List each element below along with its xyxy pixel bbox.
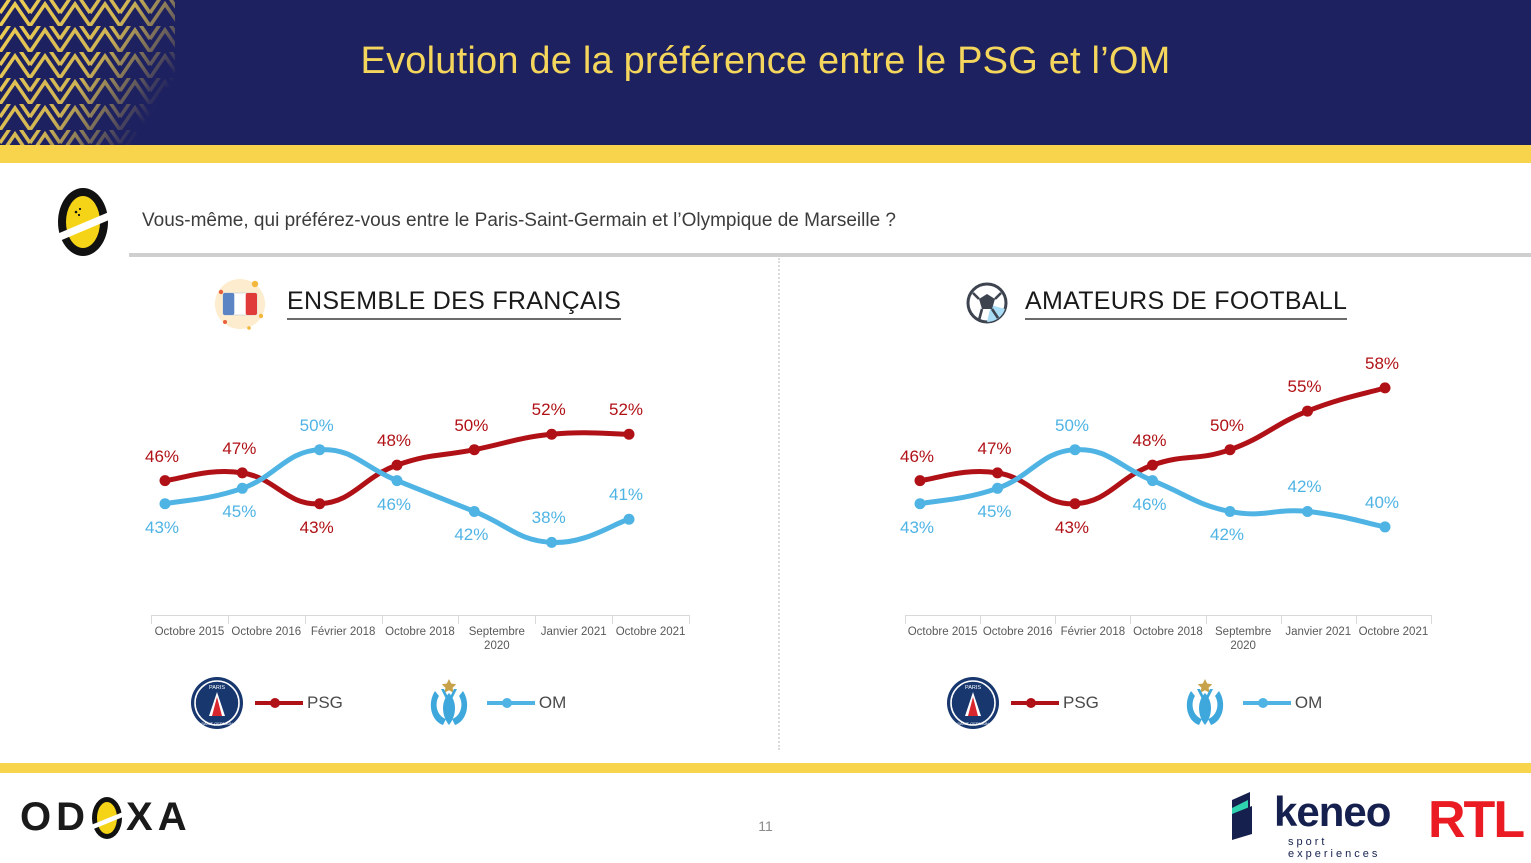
axis-tick — [1130, 615, 1131, 624]
axis-tick — [1281, 615, 1282, 624]
line-chart-amateurs: 46%47%43%48%50%55%58%43%45%50%46%42%42%4… — [790, 333, 1530, 633]
data-point-om — [1070, 444, 1081, 455]
data-label: 41% — [609, 485, 643, 505]
axis-tick — [689, 615, 690, 624]
axis-tick — [612, 615, 613, 624]
data-label: 43% — [145, 518, 179, 538]
data-label: 48% — [1133, 431, 1167, 451]
french-flag-icon — [209, 272, 271, 334]
data-label: 47% — [222, 439, 256, 459]
legend-item-psg: PARIS SAINT-GERMAIN PSG — [945, 675, 1099, 731]
data-label: 46% — [1133, 495, 1167, 515]
panel-header: AMATEURS DE FOOTBALL — [965, 273, 1347, 333]
header-accent-band — [0, 145, 1531, 163]
axis-tick — [382, 615, 383, 624]
axis-label: Février 2018 — [1055, 625, 1130, 639]
slide-title: Evolution de la préférence entre le PSG … — [0, 40, 1531, 83]
legend-label-om: OM — [539, 693, 566, 713]
panel-amateurs-de-football: AMATEURS DE FOOTBALL 46%47%43%48%50%55%5… — [790, 258, 1530, 758]
data-label: 50% — [454, 416, 488, 436]
rtl-logo: RTL — [1428, 790, 1523, 850]
data-point-om — [1147, 475, 1158, 486]
data-point-om — [624, 514, 635, 525]
axis-label: Octobre 2016 — [980, 625, 1055, 639]
data-point-psg — [546, 429, 557, 440]
axis-label: Septembre 2020 — [1206, 625, 1281, 653]
axis-tick — [228, 615, 229, 624]
footer-accent-band — [0, 763, 1531, 773]
axis-tick — [1206, 615, 1207, 624]
data-point-om — [160, 498, 171, 509]
data-point-om — [237, 483, 248, 494]
axis-label: Octobre 2018 — [1130, 625, 1205, 639]
axis-tick — [1431, 615, 1432, 624]
axis-label: Septembre 2020 — [458, 625, 535, 653]
data-label: 43% — [900, 518, 934, 538]
axis-tick — [535, 615, 536, 624]
soccer-ball-icon — [965, 281, 1009, 325]
data-label: 46% — [145, 447, 179, 467]
legend-item-om: OM — [1177, 675, 1322, 731]
data-point-psg — [1302, 406, 1313, 417]
data-label: 42% — [1288, 477, 1322, 497]
data-label: 50% — [1210, 416, 1244, 436]
data-point-om — [546, 537, 557, 548]
axis-tick — [1356, 615, 1357, 624]
panel-title: AMATEURS DE FOOTBALL — [1025, 287, 1347, 320]
keneo-logo: keneo sport experiences — [1228, 788, 1403, 850]
keneo-tagline: sport experiences — [1288, 836, 1403, 860]
legend-marker-psg — [1009, 695, 1061, 711]
data-label: 46% — [377, 495, 411, 515]
om-crest-icon — [421, 675, 477, 731]
svg-text:SAINT-GERMAIN: SAINT-GERMAIN — [201, 721, 233, 726]
data-label: 43% — [1055, 518, 1089, 538]
data-point-om — [469, 506, 480, 517]
axis-label: Octobre 2016 — [228, 625, 305, 639]
data-label: 38% — [532, 508, 566, 528]
data-point-psg — [1380, 382, 1391, 393]
x-axis: Octobre 2015Octobre 2016Février 2018Octo… — [905, 615, 1431, 661]
psg-crest-icon: PARIS SAINT-GERMAIN — [945, 675, 1001, 731]
axis-tick — [151, 615, 152, 624]
axis-tick — [458, 615, 459, 624]
data-point-psg — [392, 460, 403, 471]
legend-marker-om — [1241, 695, 1293, 711]
axis-tick — [1055, 615, 1056, 624]
axis-line — [151, 615, 689, 616]
data-label: 45% — [222, 502, 256, 522]
data-point-psg — [314, 498, 325, 509]
survey-question: Vous-même, qui préférez-vous entre le Pa… — [142, 210, 896, 232]
data-label: 42% — [454, 525, 488, 545]
data-label: 55% — [1288, 377, 1322, 397]
svg-text:SAINT-GERMAIN: SAINT-GERMAIN — [957, 721, 989, 726]
panel-ensemble-des-francais: ENSEMBLE DES FRANÇAIS 46%47%43%48%50%52%… — [129, 258, 769, 758]
data-point-om — [1225, 506, 1236, 517]
data-point-psg — [469, 444, 480, 455]
data-point-psg — [992, 467, 1003, 478]
svg-text:PARIS: PARIS — [965, 685, 981, 691]
data-point-om — [392, 475, 403, 486]
data-label: 50% — [300, 416, 334, 436]
chart-legend: PARIS SAINT-GERMAIN PSG — [945, 673, 1322, 733]
legend-label-psg: PSG — [307, 693, 343, 713]
legend-label-om: OM — [1295, 693, 1322, 713]
axis-label: Octobre 2015 — [151, 625, 228, 639]
panel-title: ENSEMBLE DES FRANÇAIS — [287, 287, 621, 320]
data-point-psg — [1225, 444, 1236, 455]
odoxa-mark-icon — [55, 186, 111, 258]
axis-tick — [905, 615, 906, 624]
data-label: 40% — [1365, 493, 1399, 513]
data-label: 58% — [1365, 354, 1399, 374]
axis-label: Octobre 2021 — [1356, 625, 1431, 639]
axis-label: Février 2018 — [305, 625, 382, 639]
data-label: 50% — [1055, 416, 1089, 436]
om-crest-icon — [1177, 675, 1233, 731]
data-point-om — [992, 483, 1003, 494]
data-point-psg — [1147, 460, 1158, 471]
data-point-psg — [915, 475, 926, 486]
axis-tick — [980, 615, 981, 624]
legend-item-om: OM — [421, 675, 566, 731]
data-label: 52% — [532, 400, 566, 420]
data-label: 42% — [1210, 525, 1244, 545]
keneo-name: keneo — [1274, 788, 1390, 836]
data-label: 45% — [978, 502, 1012, 522]
x-axis: Octobre 2015Octobre 2016Février 2018Octo… — [151, 615, 689, 661]
data-label: 48% — [377, 431, 411, 451]
data-point-om — [1380, 521, 1391, 532]
axis-label: Octobre 2021 — [612, 625, 689, 639]
slide-header: Evolution de la préférence entre le PSG … — [0, 0, 1531, 145]
axis-line — [905, 615, 1431, 616]
chart-legend: PARIS SAINT-GERMAIN PSG — [189, 673, 566, 733]
legend-marker-psg — [253, 695, 305, 711]
svg-text:PARIS: PARIS — [209, 685, 225, 691]
axis-label: Janvier 2021 — [1281, 625, 1356, 639]
axis-tick — [305, 615, 306, 624]
data-label: 46% — [900, 447, 934, 467]
line-chart-ensemble: 46%47%43%48%50%52%52%43%45%50%46%42%38%4… — [129, 333, 769, 633]
legend-label-psg: PSG — [1063, 693, 1099, 713]
legend-marker-om — [485, 695, 537, 711]
data-label: 52% — [609, 400, 643, 420]
data-point-om — [915, 498, 926, 509]
axis-label: Janvier 2021 — [535, 625, 612, 639]
data-point-psg — [624, 429, 635, 440]
data-point-psg — [237, 467, 248, 478]
data-point-om — [314, 444, 325, 455]
axis-label: Octobre 2015 — [905, 625, 980, 639]
axis-label: Octobre 2018 — [382, 625, 459, 639]
panel-header: ENSEMBLE DES FRANÇAIS — [209, 273, 621, 333]
question-divider — [129, 253, 1531, 257]
data-point-psg — [1070, 498, 1081, 509]
data-label: 47% — [978, 439, 1012, 459]
legend-item-psg: PARIS SAINT-GERMAIN PSG — [189, 675, 343, 731]
panel-divider — [778, 258, 781, 750]
data-label: 43% — [300, 518, 334, 538]
data-point-psg — [160, 475, 171, 486]
psg-crest-icon: PARIS SAINT-GERMAIN — [189, 675, 245, 731]
data-point-om — [1302, 506, 1313, 517]
